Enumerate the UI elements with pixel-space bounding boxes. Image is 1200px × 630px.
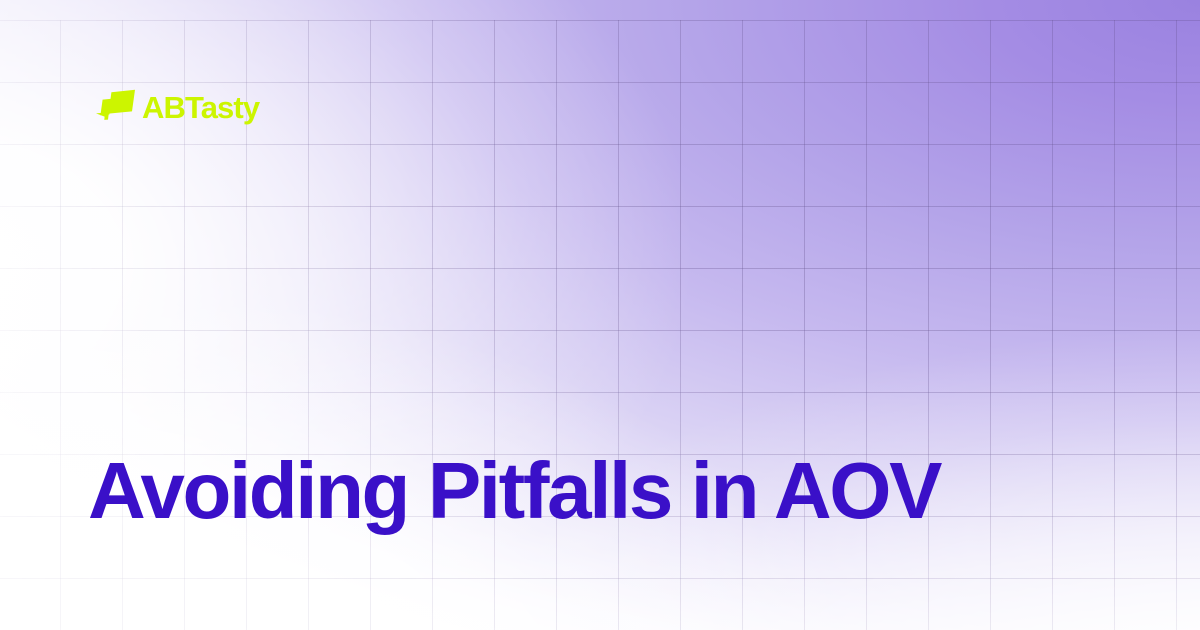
og-card: ABTasty Avoiding Pitfalls in AOV Analysi… [0,0,1200,630]
abtasty-flag-icon [94,89,140,123]
page-title: Avoiding Pitfalls in AOV Analysis for Co… [88,258,1118,630]
brand-wordmark: ABTasty [142,92,259,123]
brand-logo: ABTasty [94,88,259,124]
title-line-1: Avoiding Pitfalls in AOV [88,444,1118,537]
